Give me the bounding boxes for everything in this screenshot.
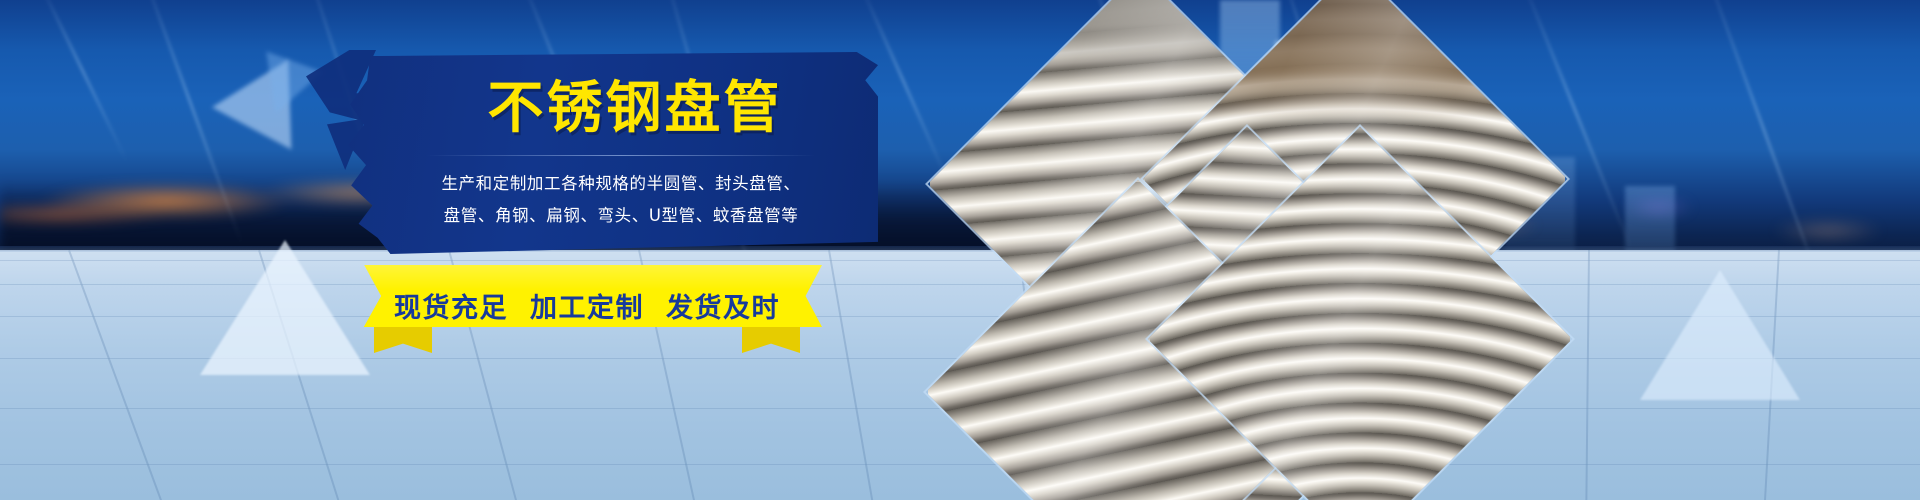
- light-streak: [137, 0, 242, 243]
- product-photo-collage: [1020, 0, 1580, 500]
- page-title: 不锈钢盘管: [488, 80, 783, 139]
- panel-content: 不锈钢盘管 生产和定制加工各种规格的半圆管、封头盘管、 盘管、角钢、扁钢、弯头、…: [348, 52, 878, 254]
- floor-line: [1916, 250, 1920, 500]
- ribbon-item-1: 现货充足: [394, 286, 508, 325]
- subtitle-block: 生产和定制加工各种规格的半圆管、封头盘管、 盘管、角钢、扁钢、弯头、U型管、蚊香…: [441, 168, 800, 232]
- subtitle-line-1: 生产和定制加工各种规格的半圆管、封头盘管、: [441, 168, 800, 200]
- feature-ribbon: 现货充足 加工定制 发货及时: [352, 255, 822, 355]
- floor-line: [1583, 250, 1590, 500]
- panel-divider: [426, 155, 816, 156]
- ribbon-text: 现货充足 加工定制 发货及时: [352, 255, 822, 355]
- ribbon-item-3: 发货及时: [666, 286, 780, 325]
- floor-line-horizontal: [0, 464, 1920, 465]
- floor-line: [829, 250, 919, 500]
- decorative-triangle: [200, 240, 370, 375]
- light-streak: [37, 0, 127, 161]
- subtitle-line-2: 盘管、角钢、扁钢、弯头、U型管、蚊香盘管等: [441, 200, 800, 232]
- promo-banner: 不锈钢盘管 生产和定制加工各种规格的半圆管、封头盘管、 盘管、角钢、扁钢、弯头、…: [0, 0, 1920, 500]
- ribbon-item-2: 加工定制: [530, 286, 644, 325]
- decorative-triangle: [1640, 270, 1800, 400]
- light-streak: [1697, 0, 1830, 260]
- floor-line: [0, 250, 82, 500]
- headline-panel: 不锈钢盘管 生产和定制加工各种规格的半圆管、封头盘管、 盘管、角钢、扁钢、弯头、…: [348, 52, 878, 254]
